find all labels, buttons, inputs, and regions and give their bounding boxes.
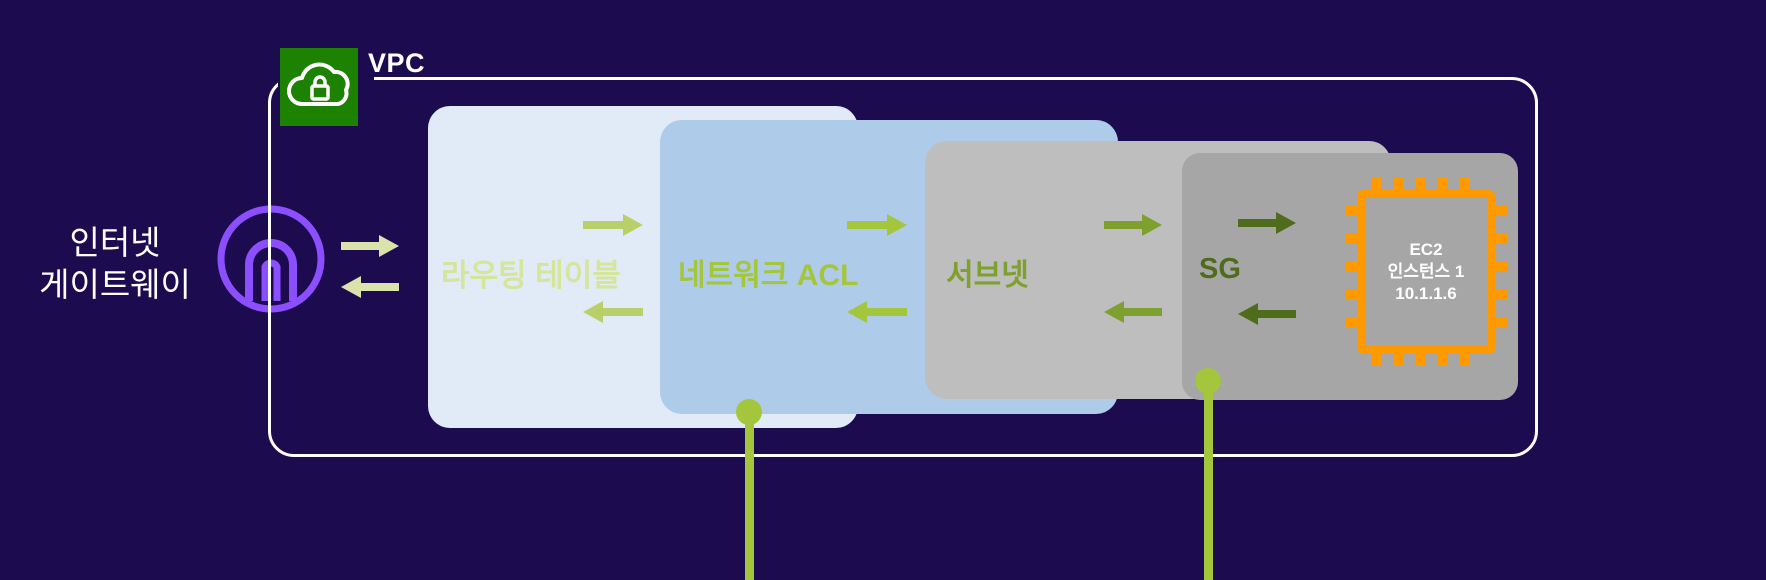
layer-subnet-label: 서브넷 [946, 250, 1029, 294]
ec2-instance-label: EC2 인스턴스 1 10.1.1.6 [1357, 190, 1495, 354]
vpc-cloud-lock-icon [280, 48, 358, 126]
ec2-chip-icon: EC2 인스턴스 1 10.1.1.6 [1345, 178, 1507, 366]
arrow-inbound-routing-table [583, 214, 643, 236]
layer-network-acl-label: 네트워크 ACL [678, 250, 858, 294]
arrow-inbound-network-acl [847, 214, 907, 236]
vpc-title: VPC [368, 48, 425, 79]
arrow-outbound-security-group [1238, 303, 1296, 325]
arrow-inbound-security-group [1238, 212, 1296, 234]
connector-dot-network-acl [736, 399, 762, 425]
arrow-outbound-network-acl [847, 301, 907, 323]
arrow-outbound-routing-table [583, 301, 643, 323]
layer-routing-table-label: 라우팅 테이블 [441, 250, 621, 295]
vpc-diagram-canvas: 인터넷 게이트웨이 VPC 라우팅 테이블 네트워크 ACL 서브넷 SG [0, 0, 1766, 580]
layer-security-group-label: SG [1199, 253, 1241, 286]
arrow-outbound-subnet [1104, 301, 1162, 323]
internet-gateway-label: 인터넷 게이트웨이 [10, 222, 220, 306]
arrow-inbound-subnet [1104, 214, 1162, 236]
connector-stem-network-acl [745, 412, 754, 580]
connector-stem-security-group [1204, 381, 1213, 580]
connector-dot-security-group [1195, 368, 1221, 394]
